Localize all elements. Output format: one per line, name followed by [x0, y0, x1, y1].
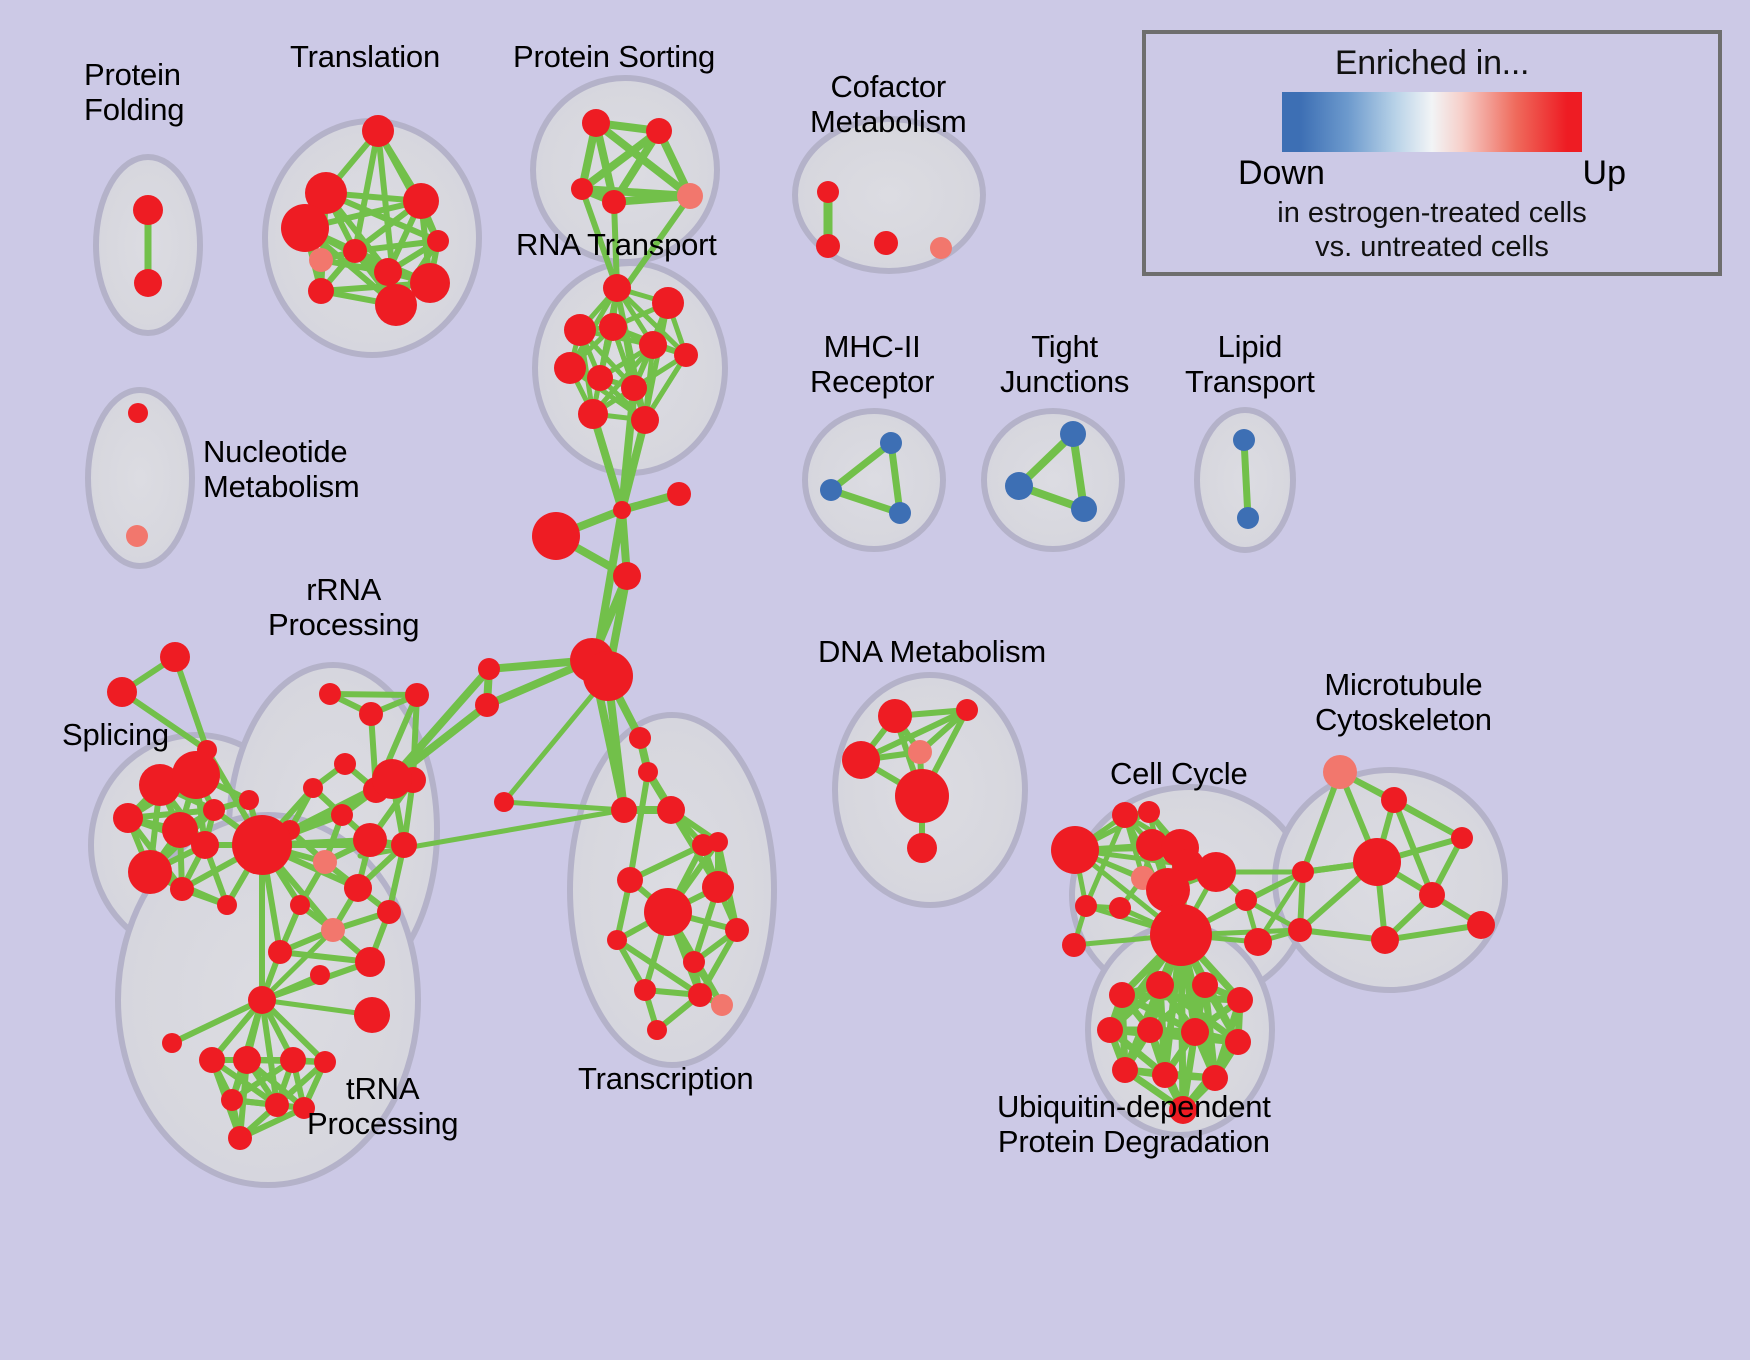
- node: [199, 1047, 225, 1073]
- legend-low-label: Down: [1238, 154, 1325, 193]
- cluster-label-cell-cycle: Cell Cycle: [1110, 757, 1248, 792]
- node: [1288, 918, 1312, 942]
- node: [228, 1126, 252, 1150]
- node: [688, 983, 712, 1007]
- node: [603, 274, 631, 302]
- node: [647, 1020, 667, 1040]
- node: [956, 699, 978, 721]
- node: [475, 693, 499, 717]
- node: [331, 804, 353, 826]
- legend-panel: Enriched in... Down Up in estrogen-treat…: [1142, 30, 1722, 276]
- node: [239, 790, 259, 810]
- node: [571, 178, 593, 200]
- node: [309, 248, 333, 272]
- node: [617, 867, 643, 893]
- cluster-label-protein-folding: Protein Folding: [84, 58, 184, 127]
- node: [1109, 982, 1135, 1008]
- legend-caption: in estrogen-treated cells vs. untreated …: [1146, 196, 1718, 264]
- node: [1353, 838, 1401, 886]
- node: [564, 314, 596, 346]
- node: [674, 343, 698, 367]
- cluster-label-microtubule-cytoskeleton: Microtubule Cytoskeleton: [1315, 668, 1492, 737]
- node: [403, 183, 439, 219]
- node: [377, 900, 401, 924]
- node: [583, 651, 633, 701]
- node: [702, 871, 734, 903]
- node: [203, 799, 225, 821]
- node: [880, 432, 902, 454]
- node: [113, 803, 143, 833]
- node: [1381, 787, 1407, 813]
- legend-high-label: Up: [1583, 154, 1626, 193]
- node: [820, 479, 842, 501]
- node: [391, 832, 417, 858]
- node: [889, 502, 911, 524]
- node: [321, 918, 345, 942]
- node: [638, 762, 658, 782]
- cluster-label-protein-sorting: Protein Sorting: [513, 40, 715, 75]
- node: [667, 482, 691, 506]
- node: [343, 239, 367, 263]
- node: [646, 118, 672, 144]
- node: [613, 562, 641, 590]
- node: [1237, 507, 1259, 529]
- node: [334, 753, 356, 775]
- node: [427, 230, 449, 252]
- node: [708, 832, 728, 852]
- node: [1062, 933, 1086, 957]
- node: [268, 940, 292, 964]
- node: [582, 109, 610, 137]
- node: [494, 792, 514, 812]
- node: [554, 352, 586, 384]
- node: [310, 965, 330, 985]
- node: [281, 204, 329, 252]
- node: [126, 525, 148, 547]
- node: [1235, 889, 1257, 911]
- node: [1060, 421, 1086, 447]
- cluster-label-dna-metabolism: DNA Metabolism: [818, 635, 1046, 670]
- node: [639, 331, 667, 359]
- node: [711, 994, 733, 1016]
- legend-end-labels: Down Up: [1222, 154, 1642, 198]
- node: [303, 778, 323, 798]
- node: [1371, 926, 1399, 954]
- node: [908, 740, 932, 764]
- legend-color-gradient-bar: [1282, 92, 1582, 152]
- node: [817, 181, 839, 203]
- node: [134, 269, 162, 297]
- node: [652, 287, 684, 319]
- legend-caption-line1: in estrogen-treated cells: [1277, 197, 1587, 229]
- node: [621, 375, 647, 401]
- cluster-label-tight-junctions: Tight Junctions: [1000, 330, 1129, 399]
- node: [248, 986, 276, 1014]
- node: [532, 512, 580, 560]
- node: [602, 190, 626, 214]
- node: [1109, 897, 1131, 919]
- node: [1451, 827, 1473, 849]
- node: [1419, 882, 1445, 908]
- node: [362, 115, 394, 147]
- node: [725, 918, 749, 942]
- node: [1051, 826, 1099, 874]
- node: [133, 195, 163, 225]
- node: [874, 231, 898, 255]
- node: [1233, 429, 1255, 451]
- node: [355, 947, 385, 977]
- node: [1227, 987, 1253, 1013]
- node: [354, 997, 390, 1033]
- cluster-label-cofactor-metabolism: Cofactor Metabolism: [810, 70, 967, 139]
- node: [221, 1089, 243, 1111]
- node: [405, 683, 429, 707]
- node: [160, 642, 190, 672]
- cluster-label-rrna-processing: rRNA Processing: [268, 573, 419, 642]
- node: [265, 1093, 289, 1117]
- node: [1467, 911, 1495, 939]
- node: [607, 930, 627, 950]
- node: [128, 403, 148, 423]
- cluster-label-translation: Translation: [290, 40, 440, 75]
- node: [191, 831, 219, 859]
- legend-title: Enriched in...: [1146, 44, 1718, 83]
- node: [290, 895, 310, 915]
- node: [1075, 895, 1097, 917]
- cluster-label-splicing: Splicing: [62, 718, 169, 753]
- node: [107, 677, 137, 707]
- node: [1112, 802, 1138, 828]
- node: [677, 183, 703, 209]
- enrichment-map-figure: Protein Folding Translation Protein Sort…: [0, 0, 1750, 1360]
- cluster-label-rna-transport: RNA Transport: [516, 228, 717, 263]
- node: [599, 313, 627, 341]
- legend-caption-line2: vs. untreated cells: [1315, 231, 1549, 263]
- node: [1137, 1017, 1163, 1043]
- node: [842, 741, 880, 779]
- node: [162, 1033, 182, 1053]
- cluster-label-trna-processing: tRNA Processing: [307, 1072, 458, 1141]
- node: [578, 399, 608, 429]
- node: [478, 658, 500, 680]
- node: [1005, 472, 1033, 500]
- cluster-label-nucleotide-metabolism: Nucleotide Metabolism: [203, 435, 360, 504]
- node: [634, 979, 656, 1001]
- node: [587, 365, 613, 391]
- node: [372, 759, 412, 799]
- node: [308, 278, 334, 304]
- node: [644, 888, 692, 936]
- node: [344, 874, 372, 902]
- node: [1192, 972, 1218, 998]
- cluster-label-ubiquitin-degradation: Ubiquitin-dependent Protein Degradation: [997, 1090, 1271, 1159]
- node: [410, 263, 450, 303]
- node: [631, 406, 659, 434]
- cluster-hull-tight-junctions: [984, 411, 1122, 549]
- cluster-hull-mhc-ii-receptor: [805, 411, 943, 549]
- node: [930, 237, 952, 259]
- node: [128, 850, 172, 894]
- node: [1138, 801, 1160, 823]
- node: [1071, 496, 1097, 522]
- node: [233, 1046, 261, 1074]
- node: [374, 258, 402, 286]
- node: [907, 833, 937, 863]
- node: [314, 1051, 336, 1073]
- node: [1225, 1029, 1251, 1055]
- cluster-label-transcription: Transcription: [578, 1062, 753, 1097]
- node: [319, 683, 341, 705]
- node: [1181, 1018, 1209, 1046]
- node: [1196, 852, 1236, 892]
- cluster-label-mhc-ii-receptor: MHC-II Receptor: [810, 330, 934, 399]
- node: [353, 823, 387, 857]
- node: [657, 796, 685, 824]
- node: [1152, 1062, 1178, 1088]
- node: [1202, 1065, 1228, 1091]
- node: [313, 850, 337, 874]
- node: [683, 951, 705, 973]
- node: [232, 815, 292, 875]
- node: [629, 727, 651, 749]
- cluster-label-lipid-transport: Lipid Transport: [1185, 330, 1315, 399]
- node: [1097, 1017, 1123, 1043]
- node: [217, 895, 237, 915]
- node: [878, 699, 912, 733]
- node: [895, 769, 949, 823]
- node: [170, 877, 194, 901]
- node: [359, 702, 383, 726]
- node: [1112, 1057, 1138, 1083]
- node: [1244, 928, 1272, 956]
- node: [613, 501, 631, 519]
- node: [1150, 904, 1212, 966]
- node: [1323, 755, 1357, 789]
- node: [172, 751, 220, 799]
- node: [280, 1047, 306, 1073]
- node: [816, 234, 840, 258]
- node: [375, 284, 417, 326]
- node: [1146, 971, 1174, 999]
- node: [611, 797, 637, 823]
- node: [1292, 861, 1314, 883]
